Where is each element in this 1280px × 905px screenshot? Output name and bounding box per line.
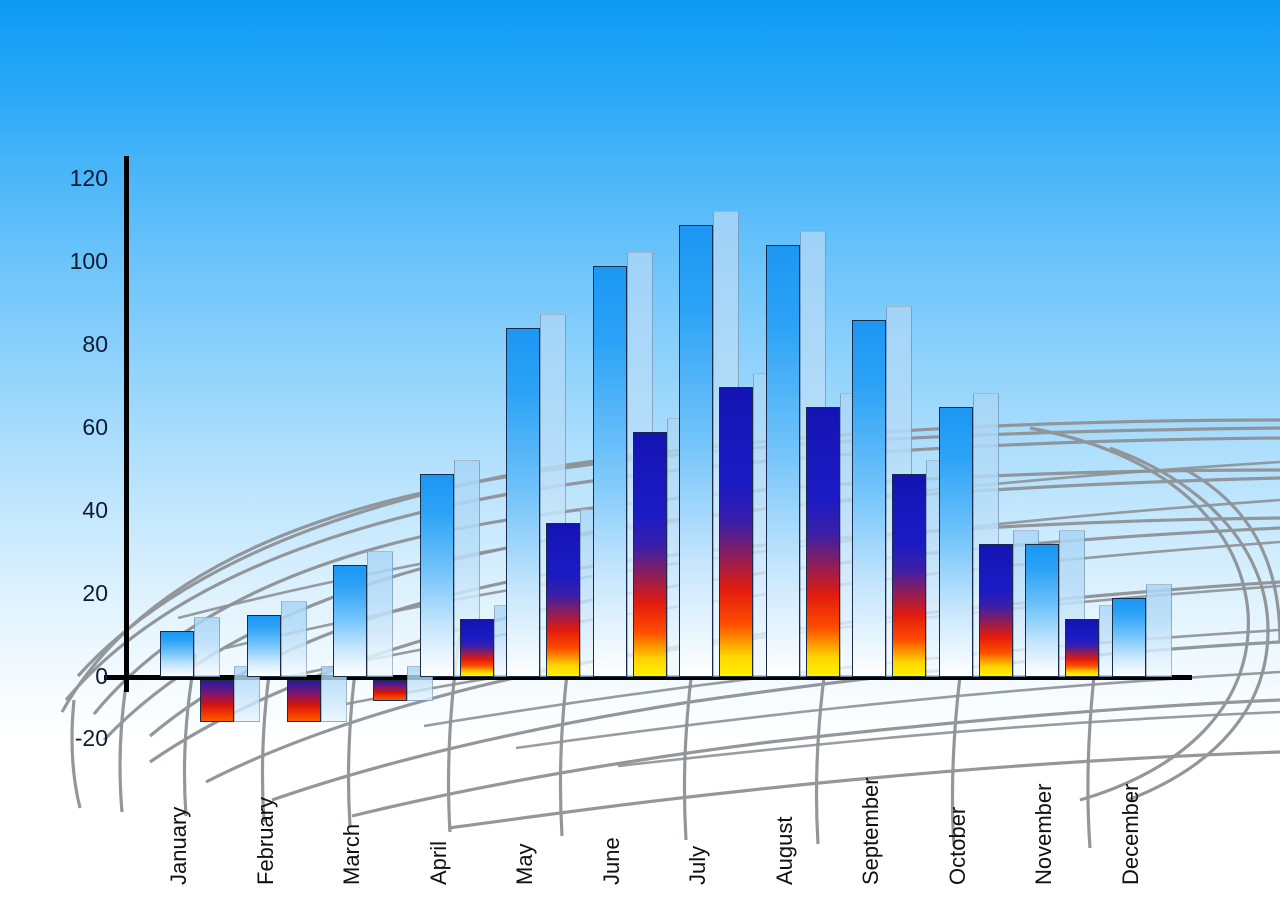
- bar-face: [979, 544, 1013, 677]
- bar-november-series1: [1025, 544, 1059, 677]
- bar-face: [1112, 598, 1146, 677]
- category-label-october: October: [947, 807, 969, 885]
- bar-face: [719, 387, 753, 678]
- bar-december-series1: [1112, 598, 1146, 677]
- bar-march-series2: [373, 680, 407, 701]
- bar-july-series1: [679, 225, 713, 677]
- bar-january-series1: [160, 631, 194, 677]
- bar-face: [806, 407, 840, 677]
- category-label-december: December: [1120, 784, 1142, 885]
- bar-november-series2: [1065, 619, 1099, 677]
- bar-chart: -20020406080100120 JanuaryFebruaryMarchA…: [0, 0, 1280, 905]
- bar-face: [1025, 544, 1059, 677]
- category-label-march: March: [341, 824, 363, 885]
- y-tick-label: 0: [50, 665, 108, 688]
- bar-february-series2: [287, 680, 321, 722]
- bar-depth-face: [367, 551, 393, 677]
- bar-april-series2: [460, 619, 494, 677]
- bar-face: [633, 432, 667, 677]
- category-label-november: November: [1033, 784, 1055, 885]
- bar-face: [852, 320, 886, 677]
- bar-september-series1: [852, 320, 886, 677]
- bar-march-series1: [333, 565, 367, 677]
- bar-depth-face: [281, 601, 307, 677]
- bar-face: [593, 266, 627, 677]
- bar-face: [892, 474, 926, 677]
- bar-face: [200, 680, 234, 722]
- y-tick-label: 40: [50, 499, 108, 522]
- y-tick-label: 120: [50, 167, 108, 190]
- bar-face: [546, 523, 580, 677]
- bar-august-series2: [806, 407, 840, 677]
- bar-june-series2: [633, 432, 667, 677]
- y-tick-label: 60: [50, 416, 108, 439]
- bar-july-series2: [719, 387, 753, 678]
- y-tick-label: -20: [8, 727, 108, 750]
- bar-face: [287, 680, 321, 722]
- bar-face: [506, 328, 540, 677]
- category-label-september: September: [860, 777, 882, 885]
- y-tick-label: 80: [50, 333, 108, 356]
- bar-face: [333, 565, 367, 677]
- y-tick-mark: [112, 675, 140, 679]
- bar-may-series2: [546, 523, 580, 677]
- bar-face: [160, 631, 194, 677]
- category-label-may: May: [514, 843, 536, 885]
- y-tick-label: 20: [50, 582, 108, 605]
- bar-depth-face: [194, 617, 220, 677]
- bar-face: [1065, 619, 1099, 677]
- y-tick-label: 100: [50, 250, 108, 273]
- category-label-june: June: [601, 837, 623, 885]
- bar-depth-face: [1146, 584, 1172, 677]
- bar-january-series2: [200, 680, 234, 722]
- bar-september-series2: [892, 474, 926, 677]
- category-label-january: January: [168, 807, 190, 885]
- bar-june-series1: [593, 266, 627, 677]
- bar-october-series2: [979, 544, 1013, 677]
- bar-face: [939, 407, 973, 677]
- bar-april-series1: [420, 474, 454, 677]
- bar-face: [679, 225, 713, 677]
- bar-august-series1: [766, 245, 800, 677]
- bar-february-series1: [247, 615, 281, 677]
- category-label-april: April: [428, 841, 450, 885]
- bar-face: [420, 474, 454, 677]
- category-label-july: July: [687, 846, 709, 885]
- bar-face: [460, 619, 494, 677]
- bar-may-series1: [506, 328, 540, 677]
- bar-face: [247, 615, 281, 677]
- bar-face: [373, 680, 407, 701]
- category-label-august: August: [774, 817, 796, 886]
- bar-october-series1: [939, 407, 973, 677]
- y-axis-line: [124, 156, 129, 692]
- category-label-february: February: [255, 797, 277, 885]
- bar-face: [766, 245, 800, 677]
